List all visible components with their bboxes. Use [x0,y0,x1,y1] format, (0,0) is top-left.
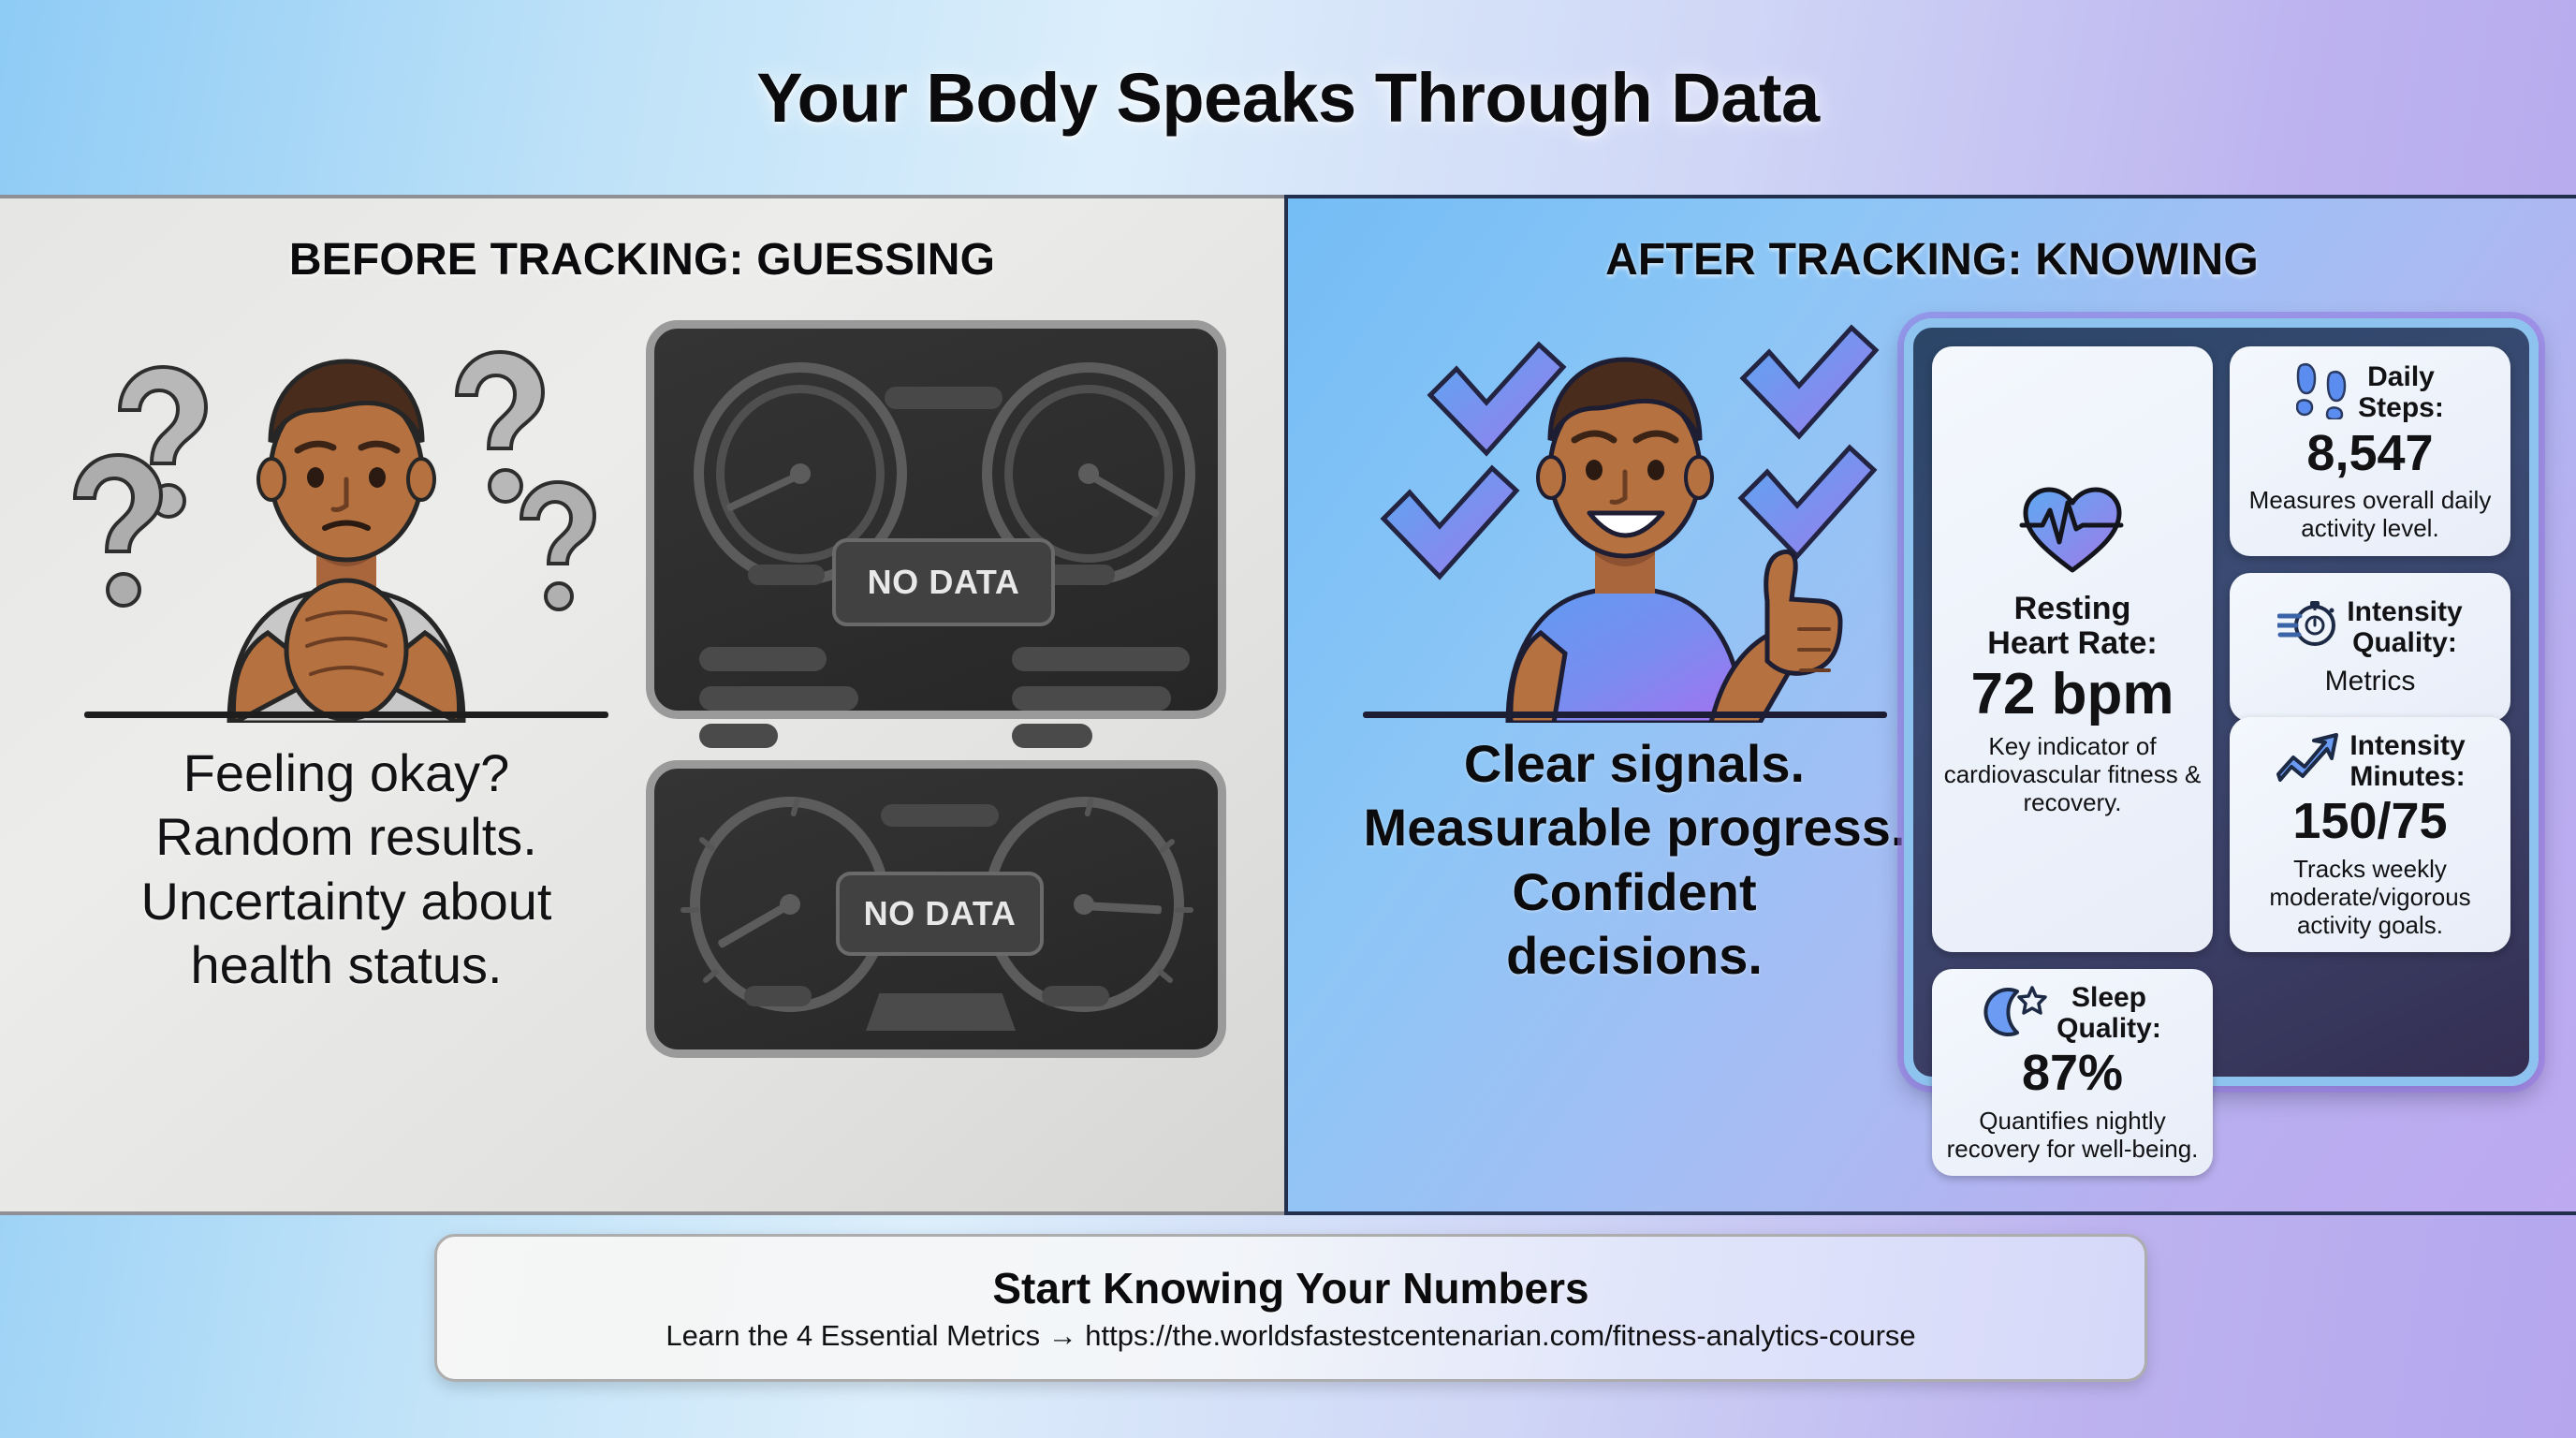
metric-header: Intensity Minutes: [2241,730,2499,792]
check-icon [1743,328,1876,436]
metric-card-intensity-minutes[interactable]: Intensity Minutes: 150/75 Tracks weekly … [2230,717,2510,952]
metric-label: Quality: [2347,627,2462,658]
comparison-panels: BEFORE TRACKING: GUESSING [0,195,2576,1215]
after-caption-line: Confident [1307,860,1962,924]
question-mark-icon [75,455,161,606]
metric-header: Daily Steps: [2241,359,2499,424]
check-icon [1741,448,1874,556]
metric-label: Sleep [2056,982,2161,1013]
metric-description: Quantifies nightly recovery for well-bei… [1943,1107,2202,1163]
after-panel-heading: AFTER TRACKING: KNOWING [1288,234,2576,286]
trending-up-arrow-icon [2275,733,2342,790]
check-icon [1430,345,1563,453]
metric-description: Measures overall daily activity level. [2241,486,2499,542]
metrics-grid: Resting Heart Rate: 72 bpm Key indicator… [1904,318,2539,1086]
cta-subtitle-link[interactable]: Learn the 4 Essential Metrics → https://… [666,1319,1915,1353]
after-tracking-panel: AFTER TRACKING: KNOWING [1284,195,2576,1215]
metrics-right-column-top: Daily Steps: 8,547 Measures overall dail… [2230,346,2510,700]
before-panel-heading: BEFORE TRACKING: GUESSING [0,234,1284,286]
confused-person-illustration [66,320,627,723]
metric-header: Sleep Quality: [1943,982,2202,1044]
metric-label: Quality: [2056,1013,2161,1044]
check-icon [1383,468,1516,577]
question-mark-icon [521,482,594,609]
heart-pulse-icon [2018,482,2127,580]
before-tracking-panel: BEFORE TRACKING: GUESSING [0,195,1284,1215]
empty-dashboard-panel-bottom: NO DATA [646,760,1226,1058]
stopwatch-speed-icon [2277,597,2339,656]
moon-star-icon [1983,984,2049,1043]
metric-value: 150/75 [2292,794,2447,848]
empty-dashboard-panel-top: NO DATA [646,320,1226,719]
metric-description: Key indicator of cardiovascular fitness … [1943,732,2202,816]
metric-value: 87% [2022,1046,2123,1100]
metric-label: Steps: [2358,392,2444,423]
before-caption: Feeling okay? Random results. Uncertaint… [37,741,655,997]
no-data-badge: NO DATA [832,538,1055,626]
after-caption-line: decisions. [1307,924,1962,988]
after-caption-line: Measurable progress. [1307,796,1962,859]
footsteps-icon [2296,359,2350,424]
before-caption-line: Uncertainty about [37,870,655,933]
before-caption-line: Feeling okay? [37,741,655,805]
metric-label: Minutes: [2349,761,2465,792]
page-title: Your Body Speaks Through Data [756,58,1819,138]
metric-value: 72 bpm [1970,664,2173,726]
metric-description: Metrics [2325,666,2416,698]
question-mark-icon [457,352,543,502]
metric-label: Resting [2014,592,2131,626]
call-to-action-banner[interactable]: Start Knowing Your Numbers Learn the 4 E… [434,1234,2147,1382]
metric-label: Intensity [2349,730,2465,761]
no-data-badge: NO DATA [836,872,1044,956]
metric-card-resting-heart-rate[interactable]: Resting Heart Rate: 72 bpm Key indicator… [1932,346,2213,952]
metric-label: Heart Rate: [1987,626,2157,661]
infographic-root: Your Body Speaks Through Data BEFORE TRA… [0,0,2576,1438]
metric-label: Daily [2358,361,2444,392]
metric-header: Intensity Quality: [2241,596,2499,658]
header-banner: Your Body Speaks Through Data [0,0,2576,195]
after-caption: Clear signals. Measurable progress. Conf… [1307,732,1962,988]
metric-card-sleep-quality[interactable]: Sleep Quality: 87% Quantifies nightly re… [1932,969,2213,1176]
metric-card-intensity-quality[interactable]: Intensity Quality: Metrics [2230,573,2510,722]
metric-description: Tracks weekly moderate/vigorous activity… [2241,855,2499,939]
confident-person-thumbs-up-illustration [1344,320,1906,723]
metric-value: 8,547 [2306,426,2433,480]
metric-card-daily-steps[interactable]: Daily Steps: 8,547 Measures overall dail… [2230,346,2510,556]
cta-title: Start Knowing Your Numbers [992,1263,1588,1313]
metric-label: Intensity [2347,596,2462,627]
after-caption-line: Clear signals. [1307,732,1962,796]
before-caption-line: Random results. [37,805,655,869]
before-caption-line: health status. [37,933,655,997]
